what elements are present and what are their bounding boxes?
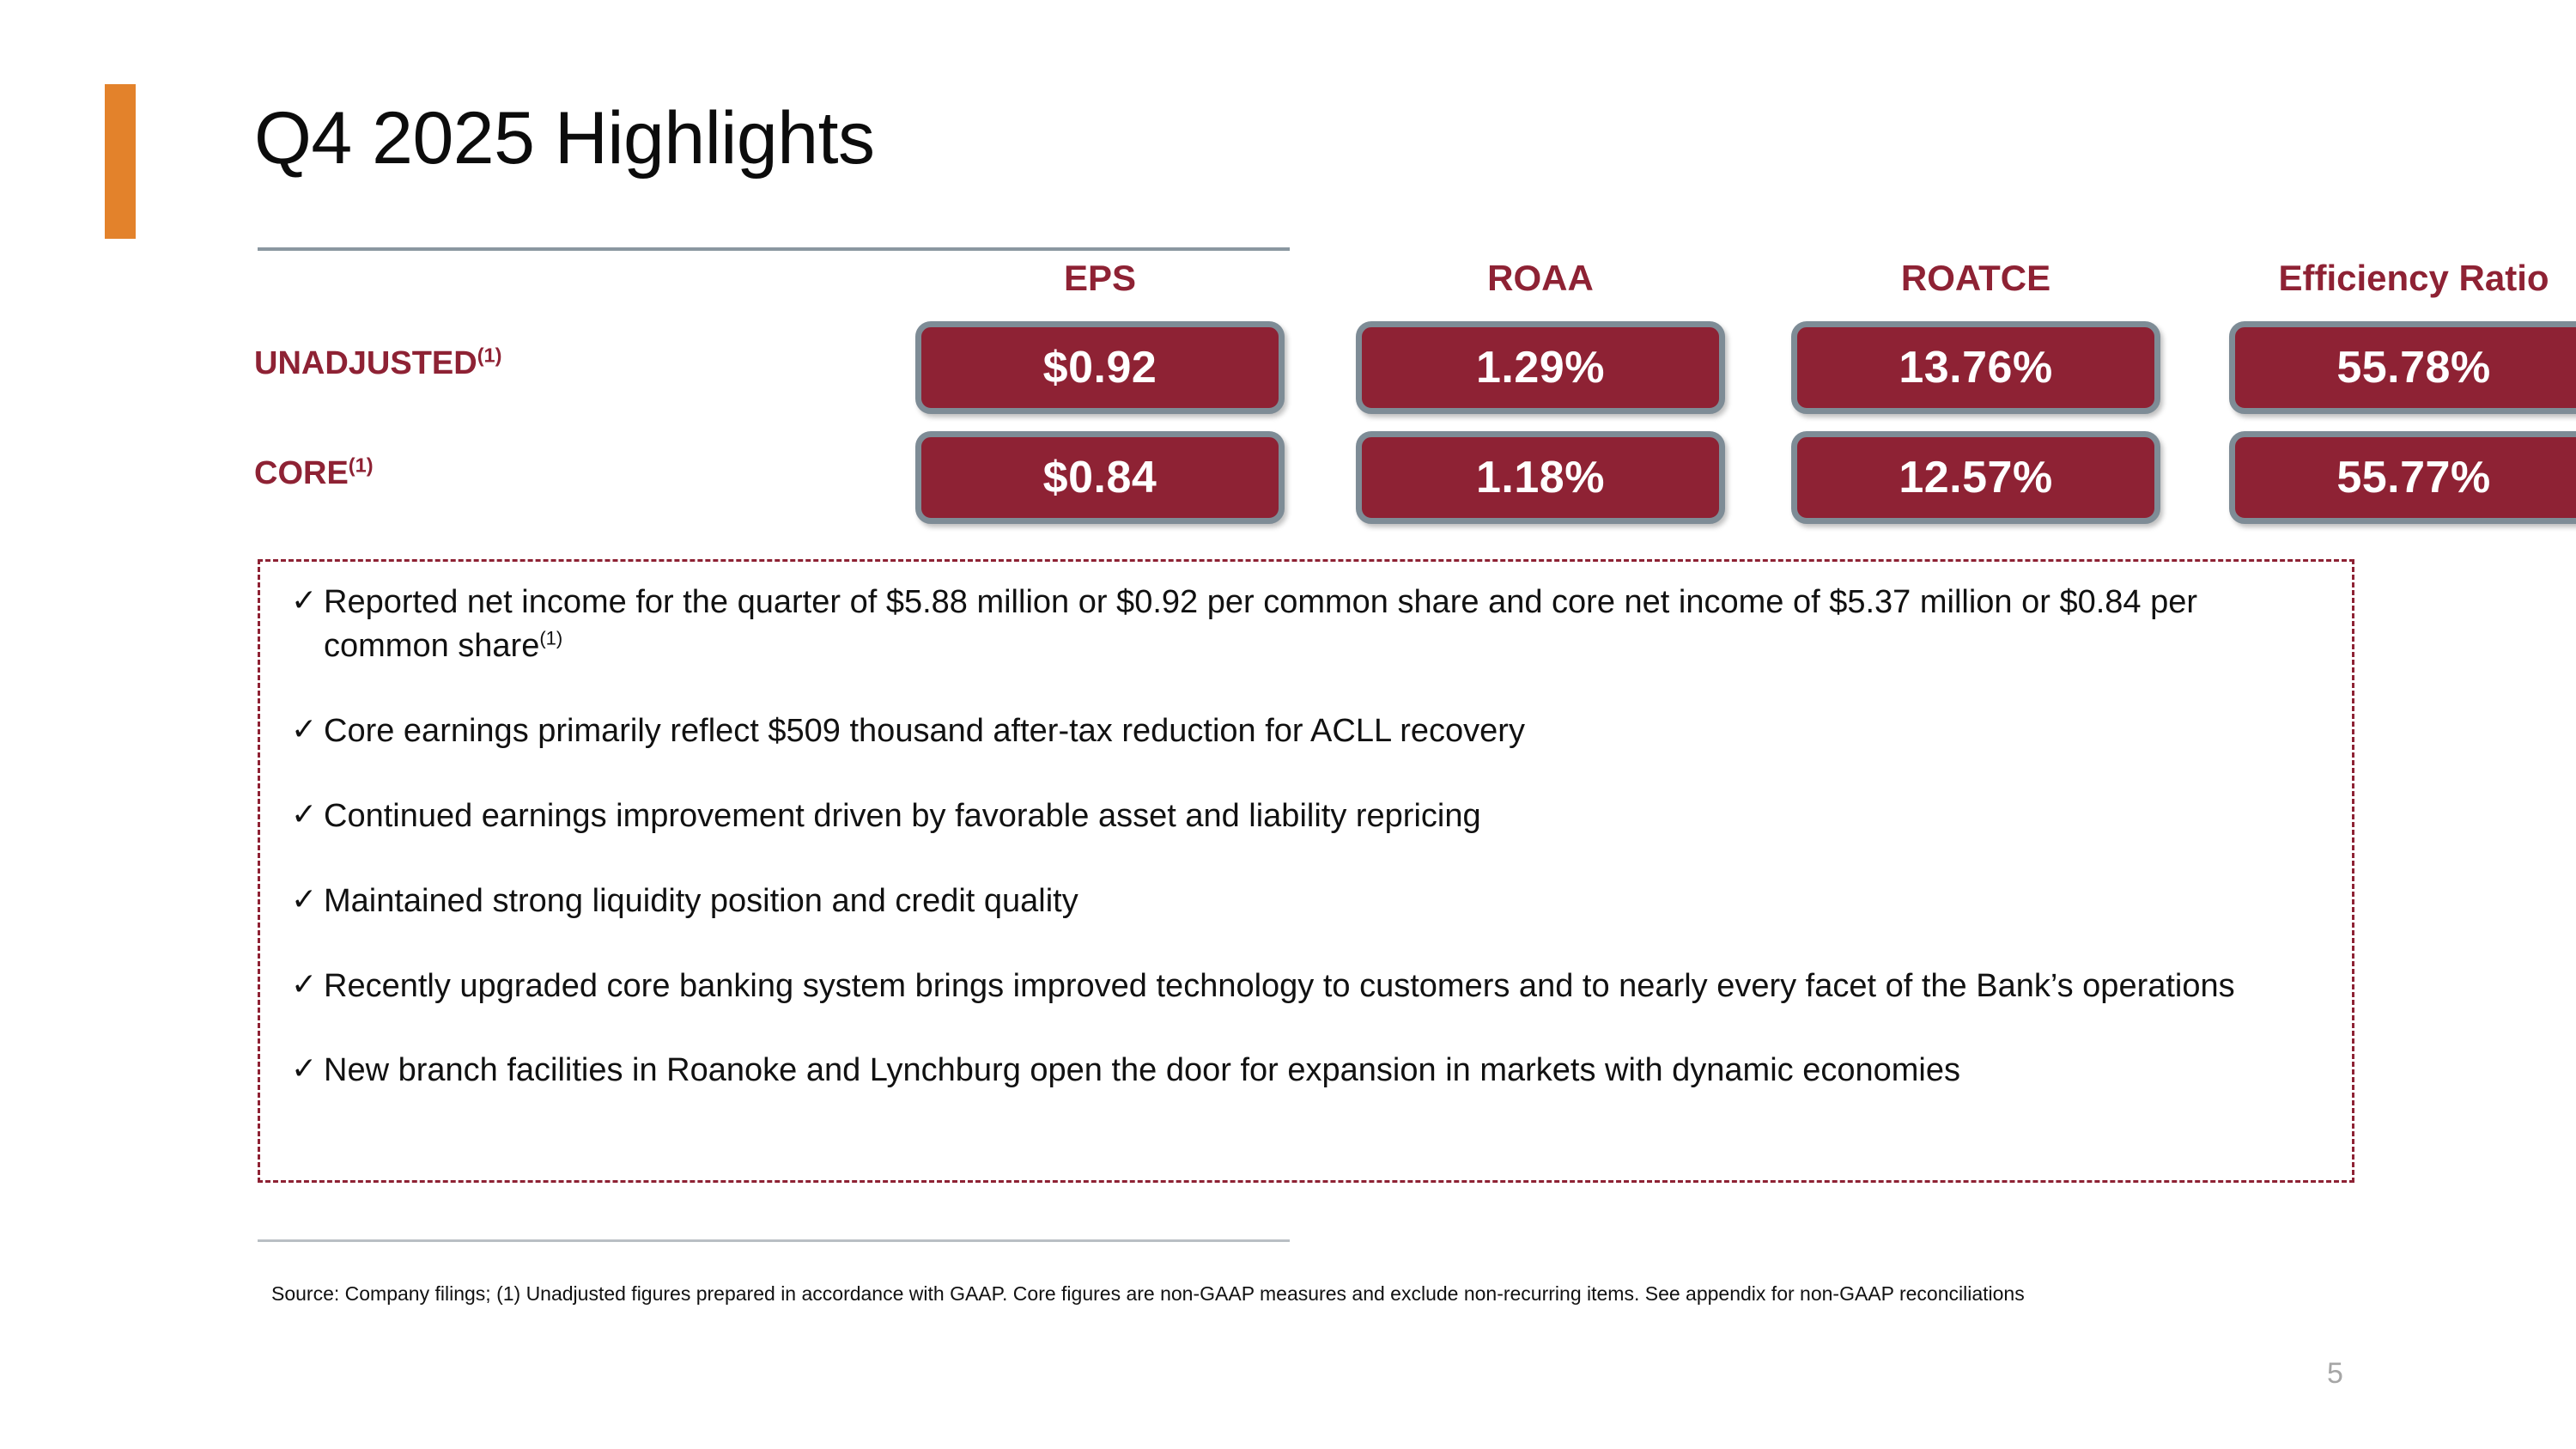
checkmark-icon: ✓ xyxy=(291,795,324,835)
column-header-eps: EPS xyxy=(915,258,1285,299)
slide-canvas: Q4 2025 Highlights EPS ROAA ROATCE Effic… xyxy=(0,0,2576,1449)
highlights-bullet-box: ✓ Reported net income for the quarter of… xyxy=(258,559,2354,1183)
list-item-text: Core earnings primarily reflect $509 tho… xyxy=(324,709,2324,753)
list-item-body: Core earnings primarily reflect $509 tho… xyxy=(324,713,1525,749)
metric-pill-unadjusted-efficiency-ratio: 55.78% xyxy=(2229,321,2576,414)
column-header-roaa: ROAA xyxy=(1356,258,1725,299)
checkmark-icon: ✓ xyxy=(291,1049,324,1089)
row-label-unadjusted-text: UNADJUSTED xyxy=(254,345,477,381)
highlights-bullet-list: ✓ Reported net income for the quarter of… xyxy=(291,581,2336,1093)
list-item-text: Maintained strong liquidity position and… xyxy=(324,880,2324,923)
metric-pill-core-roatce: 12.57% xyxy=(1791,431,2160,524)
list-item-body: Reported net income for the quarter of $… xyxy=(324,584,2197,664)
metric-pill-unadjusted-roatce: 13.76% xyxy=(1791,321,2160,414)
row-label-core-footnote: (1) xyxy=(349,454,374,476)
metric-value-unadjusted-roatce: 13.76% xyxy=(1899,342,2052,393)
list-item-body: Recently upgraded core banking system br… xyxy=(324,968,2235,1004)
list-item-body: Continued earnings improvement driven by… xyxy=(324,798,1481,834)
list-item: ✓ Maintained strong liquidity position a… xyxy=(291,880,2336,923)
metric-value-core-roaa: 1.18% xyxy=(1476,452,1605,503)
list-item-text: Reported net income for the quarter of $… xyxy=(324,581,2324,668)
metric-row-unadjusted: UNADJUSTED(1) $0.92 1.29% 13.76% 55.78% xyxy=(254,321,2351,423)
metric-pill-core-roaa: 1.18% xyxy=(1356,431,1725,524)
metrics-grid: EPS ROAA ROATCE Efficiency Ratio UNADJUS… xyxy=(254,258,2351,533)
list-item-text: New branch facilities in Roanoke and Lyn… xyxy=(324,1049,2324,1093)
list-item-footnote: (1) xyxy=(539,627,562,648)
metrics-column-headers: EPS ROAA ROATCE Efficiency Ratio xyxy=(254,258,2351,313)
page-number: 5 xyxy=(2327,1357,2343,1391)
metric-value-unadjusted-roaa: 1.29% xyxy=(1476,342,1605,393)
list-item: ✓ Recently upgraded core banking system … xyxy=(291,965,2336,1008)
metric-value-core-efficiency-ratio: 55.77% xyxy=(2336,452,2490,503)
row-label-core-text: CORE xyxy=(254,455,349,491)
title-accent-bar xyxy=(105,84,136,239)
list-item: ✓ Core earnings primarily reflect $509 t… xyxy=(291,709,2336,753)
row-label-core: CORE(1) xyxy=(254,455,675,492)
metric-pill-core-eps: $0.84 xyxy=(915,431,1285,524)
column-header-efficiency-ratio: Efficiency Ratio xyxy=(2229,258,2576,299)
list-item: ✓ Reported net income for the quarter of… xyxy=(291,581,2336,668)
list-item: ✓ Continued earnings improvement driven … xyxy=(291,795,2336,838)
row-label-unadjusted-footnote: (1) xyxy=(477,344,502,366)
metric-pill-unadjusted-roaa: 1.29% xyxy=(1356,321,1725,414)
title-divider xyxy=(258,247,1290,251)
checkmark-icon: ✓ xyxy=(291,965,324,1005)
metric-row-core: CORE(1) $0.84 1.18% 12.57% 55.77% xyxy=(254,431,2351,533)
metric-pill-core-efficiency-ratio: 55.77% xyxy=(2229,431,2576,524)
checkmark-icon: ✓ xyxy=(291,581,324,621)
metric-value-unadjusted-eps: $0.92 xyxy=(1043,342,1157,393)
column-header-roatce: ROATCE xyxy=(1791,258,2160,299)
metric-value-unadjusted-efficiency-ratio: 55.78% xyxy=(2336,342,2490,393)
page-title: Q4 2025 Highlights xyxy=(254,101,874,175)
list-item-body: New branch facilities in Roanoke and Lyn… xyxy=(324,1052,1960,1088)
list-item-text: Recently upgraded core banking system br… xyxy=(324,965,2324,1008)
row-label-unadjusted: UNADJUSTED(1) xyxy=(254,345,675,382)
checkmark-icon: ✓ xyxy=(291,880,324,920)
metric-value-core-roatce: 12.57% xyxy=(1899,452,2052,503)
list-item-text: Continued earnings improvement driven by… xyxy=(324,795,2324,838)
metric-pill-unadjusted-eps: $0.92 xyxy=(915,321,1285,414)
list-item: ✓ New branch facilities in Roanoke and L… xyxy=(291,1049,2336,1093)
source-note: Source: Company filings; (1) Unadjusted … xyxy=(271,1282,2025,1306)
metric-value-core-eps: $0.84 xyxy=(1043,452,1157,503)
footer-divider xyxy=(258,1239,1290,1242)
list-item-body: Maintained strong liquidity position and… xyxy=(324,883,1078,919)
checkmark-icon: ✓ xyxy=(291,709,324,750)
